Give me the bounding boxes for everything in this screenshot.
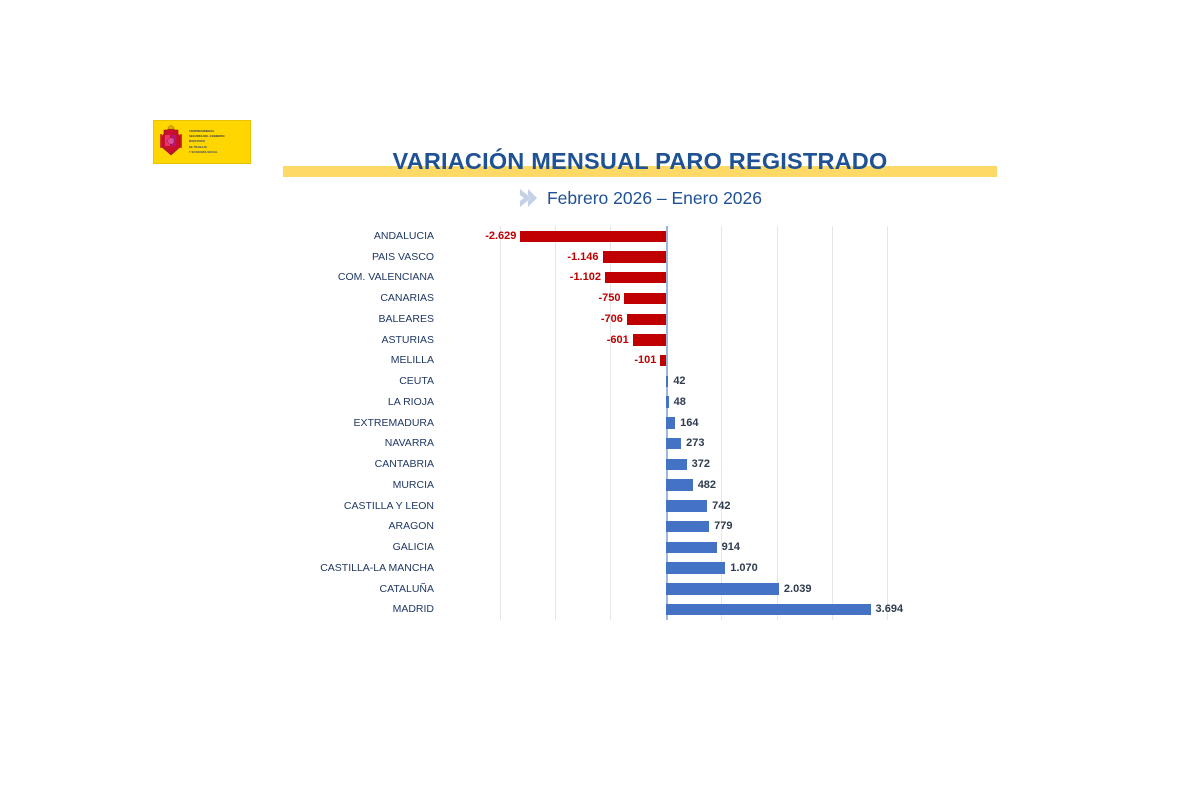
bar-row: ASTURIAS-601 [472, 330, 915, 351]
bar-row: LA RIOJA48 [472, 392, 915, 413]
bar-row: NAVARRA273 [472, 433, 915, 454]
category-label: MELILLA [134, 350, 443, 371]
bar-value-label: 164 [680, 413, 698, 434]
bar-value-label: -750 [598, 288, 620, 309]
bar [666, 396, 669, 407]
bar [666, 417, 675, 428]
bar-row: CANTABRIA372 [472, 454, 915, 475]
category-label: CASTILLA-LA MANCHA [134, 558, 443, 579]
bar [666, 500, 707, 511]
bar-value-label: 1.070 [730, 558, 758, 579]
bar [666, 562, 725, 573]
bar-value-label: 482 [698, 475, 716, 496]
bar-row: CASTILLA Y LEON742 [472, 496, 915, 517]
bar [605, 272, 666, 283]
bar-row: MELILLA-101 [472, 350, 915, 371]
bar [666, 583, 779, 594]
chart: ANDALUCIA-2.629PAIS VASCO-1.146COM. VALE… [0, 0, 1200, 800]
bar [666, 604, 871, 615]
bar-row: PAIS VASCO-1.146 [472, 247, 915, 268]
category-label: MURCIA [134, 475, 443, 496]
bar-value-label: 779 [714, 516, 732, 537]
bar-value-label: 742 [712, 496, 730, 517]
bar-row: GALICIA914 [472, 537, 915, 558]
bar-row: CATALUÑA2.039 [472, 579, 915, 600]
bar-value-label: 2.039 [784, 579, 812, 600]
bar [624, 293, 666, 304]
bar-value-label: 3.694 [876, 599, 904, 620]
category-label: GALICIA [134, 537, 443, 558]
plot-area: ANDALUCIA-2.629PAIS VASCO-1.146COM. VALE… [472, 226, 915, 620]
bar [660, 355, 666, 366]
category-label: MADRID [134, 599, 443, 620]
category-label: CANTABRIA [134, 454, 443, 475]
bar [666, 479, 693, 490]
bar-value-label: 48 [674, 392, 686, 413]
bar-row: CEUTA42 [472, 371, 915, 392]
bar [666, 438, 681, 449]
category-label: CEUTA [134, 371, 443, 392]
bar-row: MURCIA482 [472, 475, 915, 496]
bar [603, 251, 666, 262]
bar-value-label: 372 [692, 454, 710, 475]
bar-row: ANDALUCIA-2.629 [472, 226, 915, 247]
bar-row: CANARIAS-750 [472, 288, 915, 309]
bar-value-label: -601 [607, 330, 629, 351]
bar [666, 521, 709, 532]
bar-value-label: -1.146 [567, 247, 598, 268]
bar-row: ARAGON779 [472, 516, 915, 537]
bar-value-label: 914 [722, 537, 740, 558]
category-label: LA RIOJA [134, 392, 443, 413]
category-label: NAVARRA [134, 433, 443, 454]
bar [633, 334, 666, 345]
bar-value-label: -101 [634, 350, 656, 371]
category-label: ASTURIAS [134, 330, 443, 351]
bar [666, 376, 668, 387]
bar-value-label: 42 [673, 371, 685, 392]
category-label: BALEARES [134, 309, 443, 330]
bar [666, 542, 717, 553]
bar [520, 231, 666, 242]
bar-value-label: -1.102 [570, 267, 601, 288]
bar-row: EXTREMADURA164 [472, 413, 915, 434]
category-label: CASTILLA Y LEON [134, 496, 443, 517]
bar-row: CASTILLA-LA MANCHA1.070 [472, 558, 915, 579]
bar-value-label: 273 [686, 433, 704, 454]
category-label: CANARIAS [134, 288, 443, 309]
bar-row: COM. VALENCIANA-1.102 [472, 267, 915, 288]
category-label: ANDALUCIA [134, 226, 443, 247]
bar [627, 314, 666, 325]
bar-value-label: -2.629 [485, 226, 516, 247]
bar-row: MADRID3.694 [472, 599, 915, 620]
category-label: COM. VALENCIANA [134, 267, 443, 288]
category-label: PAIS VASCO [134, 247, 443, 268]
category-label: CATALUÑA [134, 579, 443, 600]
category-label: EXTREMADURA [134, 413, 443, 434]
bar-value-label: -706 [601, 309, 623, 330]
bar [666, 459, 687, 470]
category-label: ARAGON [134, 516, 443, 537]
bar-row: BALEARES-706 [472, 309, 915, 330]
